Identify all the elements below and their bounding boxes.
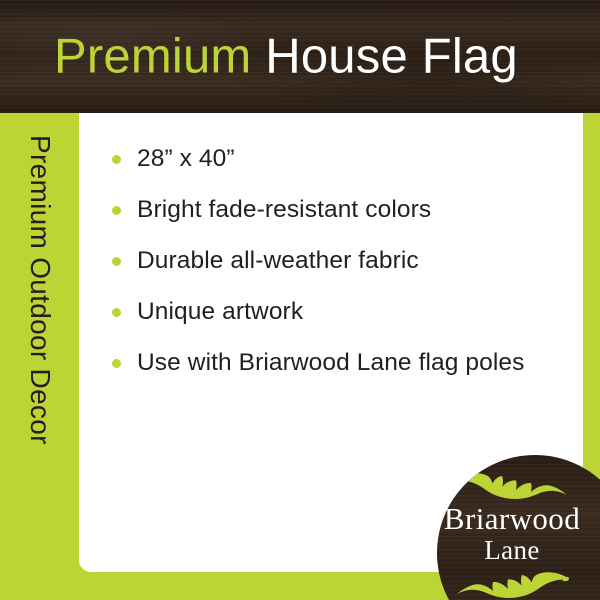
brand-logo-inner: Briarwood Lane [437,469,587,600]
list-item-label: 28” x 40” [137,145,235,172]
bullet-icon [112,359,121,368]
list-item-label: Durable all-weather fabric [137,247,419,274]
list-item-label: Unique artwork [137,298,303,325]
brand-logo-badge: Briarwood Lane [437,455,600,600]
list-item-label: Use with Briarwood Lane flag poles [137,349,524,376]
bullet-icon [112,308,121,317]
product-info-card: Premium House Flag Premium Outdoor Decor… [0,0,600,600]
page-title-accent: Premium [54,29,251,83]
page-title-plain: House Flag [265,29,518,83]
feature-list: 28” x 40” Bright fade-resistant colors D… [79,113,583,377]
list-item: Use with Briarwood Lane flag poles [112,348,583,378]
leaf-branch-icon [454,568,570,600]
list-item: Bright fade-resistant colors [112,195,583,225]
list-item-label: Bright fade-resistant colors [137,196,431,223]
leaf-branch-icon [454,469,570,501]
sidebar-accent-panel: Premium Outdoor Decor [0,113,79,600]
sidebar-vertical-label: Premium Outdoor Decor [26,135,54,445]
bullet-icon [112,206,121,215]
list-item: Unique artwork [112,297,583,327]
brand-name-primary: Briarwood [437,503,587,535]
page-title: Premium House Flag [54,32,518,81]
list-item: 28” x 40” [112,144,583,174]
bullet-icon [112,155,121,164]
list-item: Durable all-weather fabric [112,246,583,276]
brand-name-secondary: Lane [437,535,587,565]
header-banner: Premium House Flag [0,0,600,113]
bullet-icon [112,257,121,266]
